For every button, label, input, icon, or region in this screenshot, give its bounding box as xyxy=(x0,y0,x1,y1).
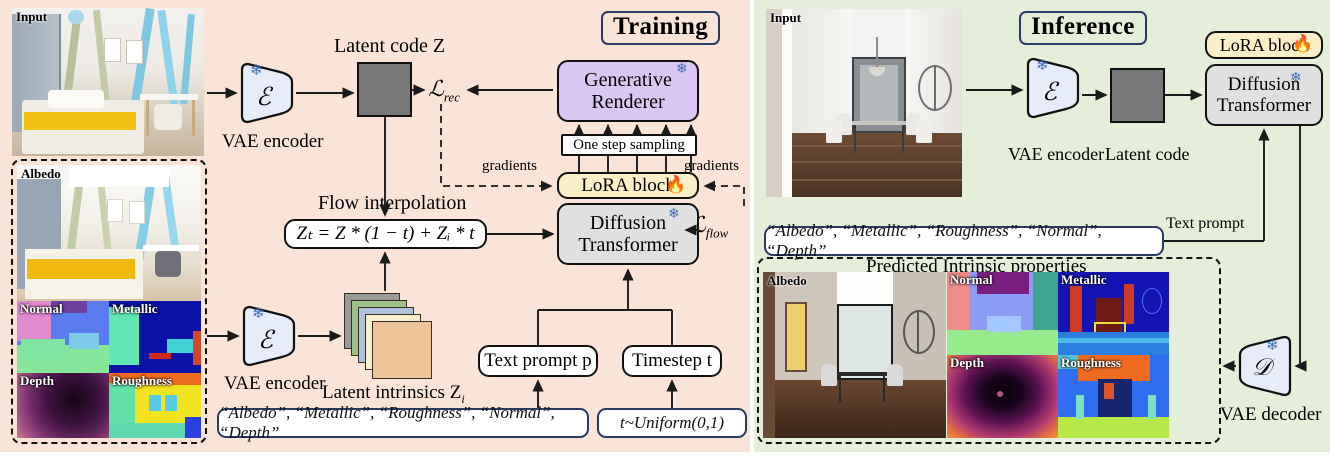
predicted-albedo-image: Albedo xyxy=(763,272,946,438)
gt-roughness-label: Roughness xyxy=(112,373,172,389)
inference-vae-encoder: ℰ ❄ xyxy=(1026,55,1082,121)
flow-equation-box: Zₜ = Z * (1 − t) + Zᵢ * t xyxy=(284,219,487,249)
timestep-node[interactable]: Timestep t xyxy=(622,345,722,377)
inference-vae-decoder-glyph: 𝒟 xyxy=(1252,355,1271,382)
training-timestep-values-box[interactable]: t~Uniform(0,1) xyxy=(597,408,747,438)
predicted-albedo-label: Albedo xyxy=(767,273,807,289)
training-timestep-values: t~Uniform(0,1) xyxy=(620,413,724,433)
one-step-sampling-label: One step sampling xyxy=(573,137,685,154)
inference-diffusion-transformer[interactable]: Diffusion Transformer xyxy=(1205,64,1323,126)
predicted-roughness-label: Roughness xyxy=(1061,355,1121,371)
snowflake-icon: ❄ xyxy=(1036,59,1049,74)
flame-icon: 🔥 xyxy=(1292,35,1313,52)
training-dit-line1: Diffusion xyxy=(590,212,666,234)
inference-latent-code-square xyxy=(1110,68,1165,123)
training-vae-encoder-bottom-caption: VAE encoder xyxy=(224,373,325,395)
vae-encoder-top-glyph: ℰ xyxy=(256,82,271,112)
inference-dit-line2: Transformer xyxy=(1217,95,1311,116)
gt-normal-image: Normal xyxy=(17,301,109,373)
text-prompt-node-label: Text prompt p xyxy=(484,350,591,371)
snowflake-icon: ❄ xyxy=(252,307,265,322)
gt-albedo-label: Albedo xyxy=(21,166,61,182)
predicted-normal-image: Normal xyxy=(947,272,1058,355)
loss-rec-subscript: rec xyxy=(444,89,460,104)
training-lora-label: LoRA block xyxy=(581,175,674,196)
flow-interpolation-label: Flow interpolation xyxy=(318,192,466,215)
flow-equation: Zₜ = Z * (1 − t) + Zᵢ * t xyxy=(297,223,475,244)
gt-metallic-label: Metallic xyxy=(112,301,157,317)
training-vae-encoder-top: ℰ ❄ xyxy=(240,60,296,126)
inference-prompt-values: “Albedo”, “Metallic”, “Roughness”, “Norm… xyxy=(766,221,1162,261)
figure-root: Input Albedo Normal Metallic xyxy=(0,0,1330,460)
training-prompt-values-box[interactable]: “Albedo”, “Metallic”, “Roughness”, “Norm… xyxy=(217,408,589,438)
gradients-label-right: gradients xyxy=(684,158,739,175)
latent-code-square xyxy=(357,62,412,117)
generative-renderer-line1: Generative xyxy=(584,69,672,91)
gt-roughness-image: Roughness xyxy=(109,373,201,438)
gt-albedo-image: Albedo xyxy=(17,165,201,301)
loss-rec-symbol: ℒ xyxy=(428,76,444,101)
inference-vae-decoder-caption: VAE decoder xyxy=(1220,404,1321,426)
snowflake-icon: ❄ xyxy=(250,64,263,79)
predicted-normal-label: Normal xyxy=(950,272,993,288)
gt-metallic-image: Metallic xyxy=(109,301,201,373)
training-prompt-values: “Albedo”, “Metallic”, “Roughness”, “Norm… xyxy=(219,403,587,443)
loss-rec: ℒrec xyxy=(428,76,460,105)
inference-input-label: Input xyxy=(770,10,801,26)
training-input-label: Input xyxy=(16,9,47,25)
gt-depth-image: Depth xyxy=(17,373,109,438)
training-vae-encoder-top-caption: VAE encoder xyxy=(222,131,323,153)
inference-vae-decoder: 𝒟 ❄ xyxy=(1236,333,1292,399)
gt-normal-label: Normal xyxy=(20,301,63,317)
latent-intrinsics-layer-peach xyxy=(372,321,432,379)
gt-depth-label: Depth xyxy=(20,373,54,389)
predicted-depth-label: Depth xyxy=(950,355,984,371)
latent-intrinsics-stack xyxy=(320,293,450,378)
latent-intrinsics-caption-text: Latent intrinsics Z xyxy=(322,382,461,403)
gradients-label-left: gradients xyxy=(482,158,537,175)
one-step-sampling-box[interactable]: One step sampling xyxy=(561,134,697,156)
predicted-metallic-image: Metallic xyxy=(1058,272,1169,355)
snowflake-icon: ❄ xyxy=(676,63,688,77)
inference-input-image: Input xyxy=(766,9,962,197)
inference-vae-encoder-caption: VAE encoder xyxy=(1008,144,1104,165)
training-vae-encoder-bottom: ℰ ❄ xyxy=(242,303,298,369)
inference-latent-code-label: Latent code xyxy=(1105,144,1189,165)
predicted-depth-image: Depth xyxy=(947,355,1058,438)
training-title-badge: Training xyxy=(601,11,720,45)
flame-icon: 🔥 xyxy=(665,176,686,193)
snowflake-icon: ❄ xyxy=(668,208,680,222)
inference-text-prompt-label: Text prompt xyxy=(1166,215,1244,233)
snowflake-icon: ❄ xyxy=(1290,72,1302,86)
predicted-metallic-label: Metallic xyxy=(1061,272,1106,288)
timestep-node-label: Timestep t xyxy=(632,350,712,371)
inference-title-badge: Inference xyxy=(1019,11,1147,45)
text-prompt-node[interactable]: Text prompt p xyxy=(478,345,598,377)
predicted-roughness-image: Roughness xyxy=(1058,355,1169,438)
vae-encoder-bottom-glyph: ℰ xyxy=(258,325,273,355)
inference-prompt-values-box[interactable]: “Albedo”, “Metallic”, “Roughness”, “Norm… xyxy=(764,226,1164,256)
training-title-text: Training xyxy=(613,13,708,40)
snowflake-icon: ❄ xyxy=(1266,339,1279,354)
latent-code-label: Latent code Z xyxy=(334,35,445,58)
generative-renderer-line2: Renderer xyxy=(591,91,664,113)
training-dit-line2: Transformer xyxy=(578,234,677,256)
inference-vae-encoder-glyph: ℰ xyxy=(1042,77,1057,107)
training-input-image: Input xyxy=(12,8,204,156)
loss-flow-subscript: flow xyxy=(706,225,728,240)
inference-title-text: Inference xyxy=(1031,13,1135,40)
